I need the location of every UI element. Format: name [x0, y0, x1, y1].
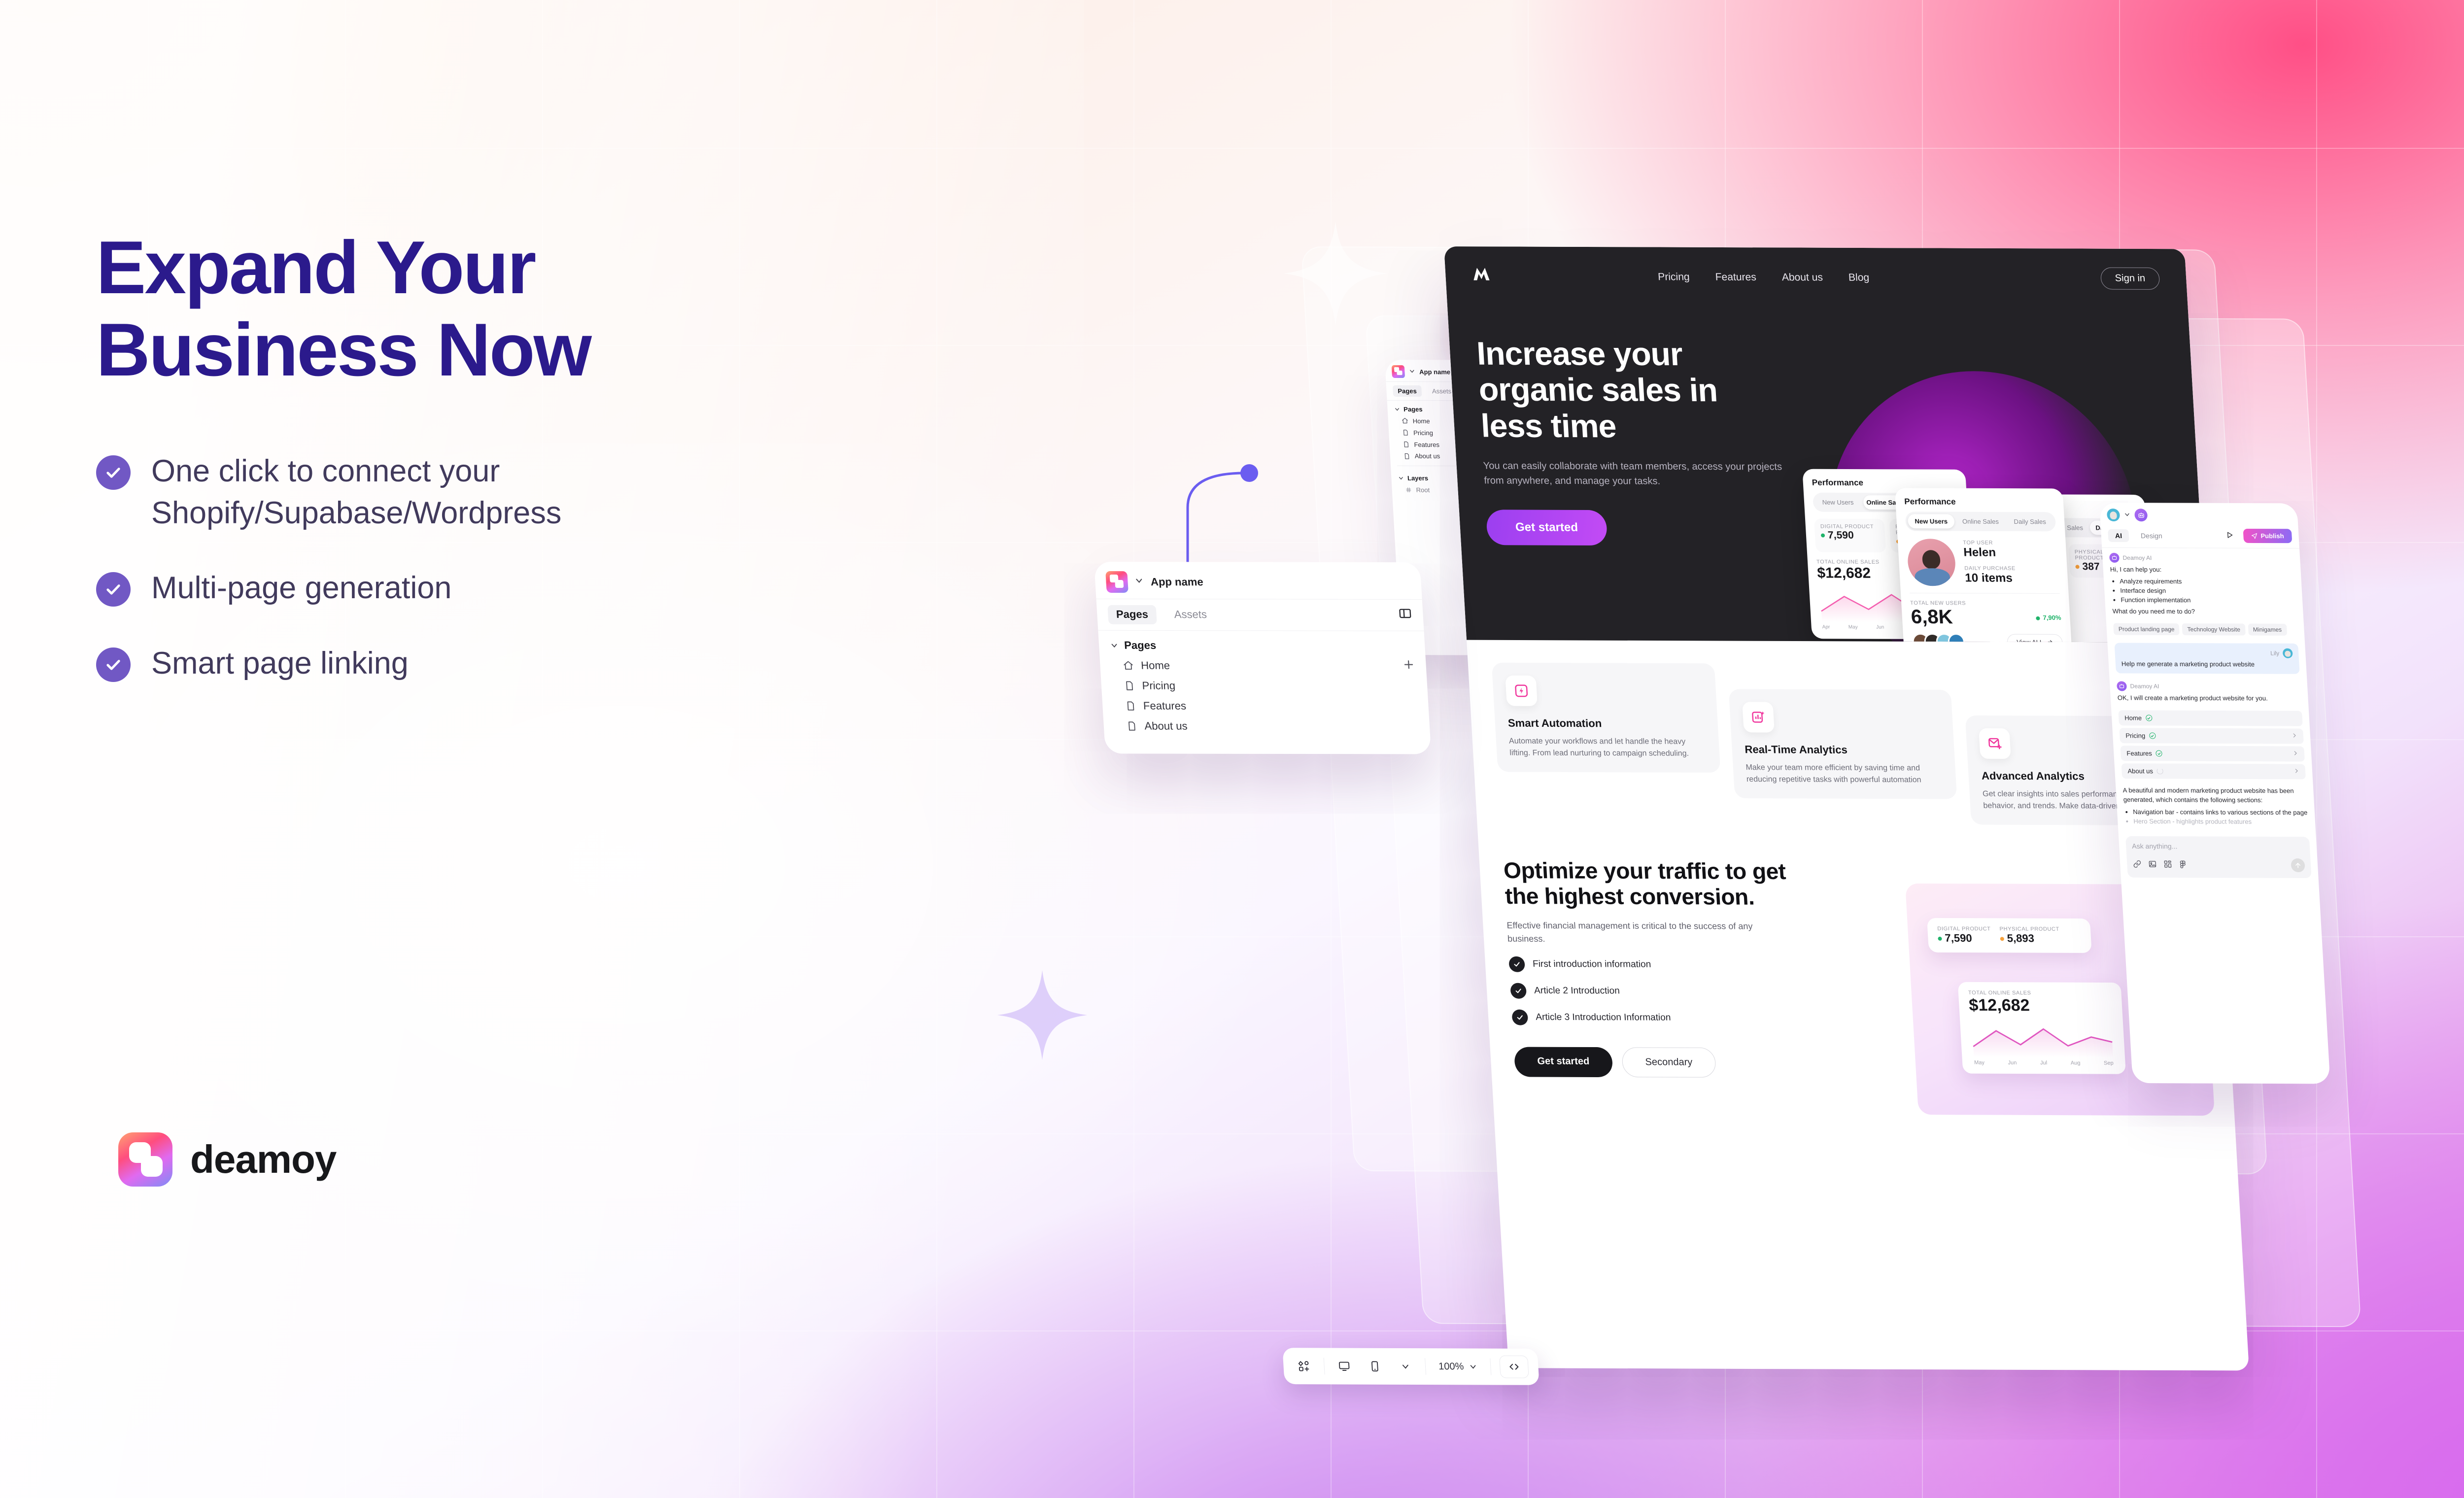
avatar[interactable]	[2107, 509, 2121, 521]
ai-panel-tabs: AI Design Publish	[2101, 525, 2299, 548]
page-item-label: About us	[1414, 452, 1440, 460]
generated-page-row[interactable]: Home	[2118, 711, 2302, 726]
publish-button[interactable]: Publish	[2243, 529, 2293, 543]
signin-button[interactable]: Sign in	[2100, 268, 2160, 290]
nav-link-pricing[interactable]: Pricing	[1658, 271, 1690, 283]
summary-text: A beautiful and modern marketing product…	[2122, 786, 2307, 805]
publish-label: Publish	[2260, 532, 2284, 540]
figma-icon[interactable]	[2179, 860, 2188, 870]
check-icon	[96, 572, 131, 607]
check-icon	[96, 455, 131, 490]
list-item-label: Article 2 Introduction	[1534, 986, 1620, 997]
list-item-label: Multi-page generation	[151, 567, 451, 609]
total-new-users-value: 6,8K	[1911, 606, 1953, 628]
page-item-label: Features	[1143, 699, 1187, 712]
hero-subtitle: You can easily collaborate with team mem…	[1483, 458, 1791, 489]
app-name: App name	[1419, 368, 1451, 375]
chevron-down-icon[interactable]	[1134, 576, 1145, 588]
status-done-icon	[2156, 750, 2162, 757]
axis-tick: Jun	[1876, 625, 1884, 630]
primary-button[interactable]: Get started	[1514, 1047, 1613, 1077]
robot-icon	[2134, 509, 2148, 521]
play-icon[interactable]	[2225, 531, 2234, 541]
chip-product-landing-page[interactable]: Product landing page	[2113, 623, 2180, 635]
tab-daily-sales[interactable]: Daily Sales	[2006, 514, 2053, 529]
kpi-physical-product: PHYSICAL PRODUCT 5,893	[1999, 926, 2060, 945]
app-name: App name	[1150, 576, 1203, 588]
page-item-label: About us	[1144, 719, 1188, 732]
axis-tick: Aug	[2070, 1060, 2080, 1066]
tab-new-users[interactable]: New Users	[1815, 495, 1861, 510]
message-author: Lily	[2121, 648, 2293, 658]
tab-ai[interactable]: AI	[2108, 529, 2129, 542]
axis-tick: Apr	[1822, 624, 1830, 630]
total-new-users-label: TOTAL NEW USERS	[1910, 600, 2060, 607]
feature-bullet-list: One click to connect your Shopify/Supaba…	[96, 450, 983, 684]
check-icon	[1511, 1009, 1528, 1025]
get-started-button[interactable]: Get started	[1486, 510, 1608, 545]
view-all-label: View ALL	[2017, 638, 2044, 643]
layout-toggle-icon[interactable]	[1398, 607, 1413, 623]
performance-card-users: Performance New Users Online Sales Daily…	[1895, 488, 2073, 643]
capability-item: Analyze requirements	[2120, 577, 2295, 587]
page-label: About us	[2127, 767, 2153, 775]
feature-card: Real-Time Analytics Make your team more …	[1728, 689, 1957, 799]
chevron-right-icon[interactable]	[2293, 750, 2299, 758]
feature-card-row: Smart Automation Automate your workflows…	[1467, 640, 2218, 826]
author-name: Lily	[2270, 649, 2280, 657]
section-label: Pages	[1403, 406, 1423, 413]
app-logo-icon	[1392, 365, 1405, 378]
chip-technology-website[interactable]: Technology Website	[2182, 623, 2246, 635]
page-title: Expand Your Business Now	[96, 227, 983, 391]
generated-page-row[interactable]: About us	[2122, 763, 2306, 779]
chevron-down-icon[interactable]	[1394, 1356, 1417, 1377]
question-text: What do you need me to do?	[2112, 607, 2296, 617]
tab-new-users[interactable]: New Users	[1908, 514, 1955, 528]
nav-link-about[interactable]: About us	[1781, 272, 1823, 283]
panel-header: App name	[1094, 562, 1422, 600]
image-icon[interactable]	[2148, 860, 2157, 870]
optimize-section: Optimize your traffic to get the highest…	[1477, 823, 2232, 1079]
chevron-right-icon[interactable]	[2293, 768, 2300, 776]
greeting-text: Hi, I can help you:	[2110, 565, 2294, 575]
card-title: Performance	[1904, 497, 2055, 507]
preview-hero: Pricing Features About us Blog Sign in I…	[1444, 246, 2207, 643]
desktop-icon[interactable]	[1333, 1355, 1356, 1377]
feature-body: Make your team more efficient by saving …	[1745, 762, 1944, 786]
assistant-message: Deamoy AI OK, I will create a marketing …	[2109, 677, 2308, 709]
card-title: Performance	[1812, 478, 1957, 488]
zoom-level: 100%	[1438, 1361, 1464, 1372]
axis-tick: Jun	[2008, 1060, 2017, 1066]
kpi-label: DIGITAL PRODUCT	[1820, 524, 1879, 530]
ai-panel-header	[2099, 503, 2298, 526]
growth-value: 7,90%	[2043, 614, 2061, 621]
section-body: Effective financial management is critic…	[1506, 919, 1784, 947]
page-label: Features	[2126, 750, 2152, 757]
list-item-label: Article 3 Introduction Information	[1536, 1012, 1671, 1023]
sparkle-icon	[995, 966, 1089, 1064]
feature-card: Smart Automation Automate your workflows…	[1492, 663, 1720, 773]
section-label: Pages	[1124, 639, 1156, 651]
robot-icon	[2109, 553, 2120, 563]
capability-item: Function implementation	[2121, 595, 2296, 605]
author-name: Deamoy AI	[2122, 554, 2152, 561]
capability-item: Interface design	[2120, 586, 2295, 596]
list-item-label: One click to connect your Shopify/Supaba…	[151, 450, 561, 534]
chevron-down-icon[interactable]	[1408, 368, 1416, 376]
pages-panel-front: App name Pages Assets Pages Home Pricing	[1094, 562, 1431, 754]
axis-tick: May	[1848, 624, 1858, 630]
panel-tabs: Pages Assets	[1096, 599, 1424, 631]
kpi-value: 7,590	[1827, 530, 1854, 541]
card-tabs: New Users Online Sales Daily Sales	[1905, 511, 2056, 531]
kpi-digital-product: DIGITAL PRODUCT 7,590	[1937, 926, 1991, 945]
brand-name: deamoy	[190, 1137, 336, 1182]
list-item-label: First introduction information	[1533, 959, 1651, 970]
check-icon	[96, 647, 131, 682]
hero-title: Increase your organic sales in less time	[1476, 336, 1798, 445]
list-item-label: Smart page linking	[151, 643, 409, 684]
daily-purchase-label: DAILY PURCHASE	[1964, 565, 2016, 571]
message-body: OK, I will create a marketing product we…	[2117, 694, 2301, 704]
generated-page-row[interactable]: Features	[2120, 746, 2304, 761]
kpi-digital-product: DIGITAL PRODUCT 7,590	[1814, 519, 1886, 552]
status-loading-icon	[2157, 768, 2164, 775]
preview-navbar: Pricing Features About us Blog Sign in	[1444, 246, 2188, 308]
app-logo-icon	[1105, 571, 1129, 593]
lightning-icon	[1505, 676, 1538, 706]
nav-link-blog[interactable]: Blog	[1848, 272, 1869, 283]
section-title: Optimize your traffic to get the highest…	[1503, 857, 1822, 910]
section-label: Layers	[1407, 475, 1429, 482]
summary-item: Hero Section - highlights product featur…	[2133, 817, 2309, 827]
components-icon[interactable]	[1293, 1355, 1316, 1377]
chat-composer[interactable]: Ask anything...	[2125, 836, 2312, 878]
ai-assistant-panel: AI Design Publish Deamoy AI Hi, I can he…	[2099, 503, 2330, 1084]
generated-page-row[interactable]: Pricing	[2119, 728, 2303, 744]
brand-logo: deamoy	[118, 1132, 336, 1187]
page-item-features[interactable]: Features	[1102, 696, 1429, 716]
product-mockup: S W App name Pages Assets	[1109, 261, 2464, 1444]
message-body: Hi, I can help you: Analyze requirements…	[2110, 565, 2296, 617]
avatar	[1907, 539, 1957, 586]
zoom-control[interactable]: 100%	[1434, 1361, 1482, 1372]
link-icon[interactable]	[2133, 860, 2142, 870]
page-item-about[interactable]: About us	[1103, 716, 1431, 737]
preview-nav-links: Pricing Features About us Blog	[1658, 271, 1870, 283]
feature-title: Smart Automation	[1507, 717, 1705, 730]
page-item-pricing[interactable]: Pricing	[1101, 676, 1428, 696]
section-pages[interactable]: Pages	[1098, 631, 1425, 656]
author-name: Deamoy AI	[2130, 683, 2159, 690]
add-page-icon[interactable]	[1402, 658, 1416, 674]
page-item-home[interactable]: Home	[1099, 655, 1427, 676]
kpi-label: DIGITAL PRODUCT	[1937, 926, 1991, 932]
chip-minigames[interactable]: Minigames	[2248, 624, 2287, 636]
summary-item: Navigation bar - contains links to vario…	[2133, 808, 2308, 817]
check-icon	[1508, 956, 1525, 972]
page-item-label: Pricing	[1142, 679, 1176, 692]
list-item: Smart page linking	[96, 643, 983, 684]
check-icon	[1510, 983, 1527, 999]
message-author: Deamoy AI	[2117, 681, 2301, 692]
feature-body: Automate your workflows and let handle t…	[1508, 736, 1707, 760]
list-item: Multi-page generation	[96, 567, 983, 609]
list-item: One click to connect your Shopify/Supaba…	[96, 450, 983, 534]
chevron-down-icon[interactable]	[2123, 511, 2131, 519]
bar-chart-icon	[1742, 702, 1775, 732]
tab-pages[interactable]: Pages	[1107, 605, 1157, 624]
kpi-label: PHYSICAL PRODUCT	[1999, 926, 2059, 932]
kpi-value: 5,893	[2007, 932, 2035, 944]
axis-tick: Sep	[2104, 1060, 2114, 1066]
user-message: Lily Help me generate a marketing produc…	[2114, 643, 2299, 674]
kpi-label: TOTAL ONLINE SALES	[1968, 990, 2112, 996]
grid-icon[interactable]	[2163, 860, 2172, 870]
page-item-label: Home	[1140, 659, 1170, 672]
page-label: Home	[2124, 715, 2142, 722]
marketing-copy: Expand Your Business Now One click to co…	[96, 227, 983, 717]
assistant-summary: A beautiful and modern marketing product…	[2116, 781, 2316, 832]
mobile-icon[interactable]	[1364, 1356, 1387, 1377]
kpi-value: 387	[2082, 561, 2100, 572]
top-user-label: TOP USER	[1963, 540, 2014, 546]
page-item-label: Home	[1412, 417, 1430, 425]
kpi-value: $12,682	[1968, 996, 2113, 1016]
deamoy-logo-icon	[118, 1132, 172, 1187]
tab-online-sales[interactable]: Online Sales	[1957, 514, 2004, 529]
send-button[interactable]	[2291, 858, 2305, 872]
top-user-value: Helen	[1963, 546, 2015, 560]
assistant-message: Deamoy AI Hi, I can help you: Analyze re…	[2102, 548, 2303, 622]
chat-input[interactable]: Ask anything...	[2132, 842, 2304, 851]
secondary-button[interactable]: Secondary	[1621, 1047, 1716, 1078]
nav-link-features[interactable]: Features	[1715, 271, 1756, 283]
kpi-value: 7,590	[1945, 932, 1973, 944]
layer-item-label: Root	[1416, 486, 1430, 494]
tab-design[interactable]: Design	[2133, 529, 2169, 542]
axis-tick: Jul	[2040, 1060, 2048, 1066]
preview-logo-icon	[1472, 267, 1495, 286]
page-label: Pricing	[2125, 732, 2146, 740]
mini-kpi-card: DIGITAL PRODUCT 7,590 PHYSICAL PRODUCT 5…	[1927, 918, 2092, 953]
avatar	[2283, 648, 2293, 658]
robot-icon	[2117, 681, 2127, 691]
line-chart	[1970, 1019, 2115, 1058]
suggestion-chips: Product landing page Technology Website …	[2106, 621, 2305, 641]
status-done-icon	[2149, 733, 2156, 739]
editor-toolbar: 100%	[1282, 1348, 1539, 1385]
mini-sales-card: TOTAL ONLINE SALES $12,682 May Jun Jul A…	[1958, 982, 2126, 1074]
status-done-icon	[2146, 715, 2153, 721]
feature-title: Real-Time Analytics	[1745, 743, 1942, 756]
daily-purchase-value: 10 items	[1965, 571, 2017, 585]
tab-pages[interactable]: Pages	[1393, 385, 1422, 397]
axis-tick: May	[1974, 1060, 1985, 1066]
user-avatar-stack	[1912, 633, 1965, 643]
chevron-right-icon[interactable]	[2292, 733, 2298, 740]
page-item-label: Features	[1414, 441, 1439, 448]
page-item-label: Pricing	[1413, 429, 1434, 437]
message-author: Deamoy AI	[2109, 553, 2293, 563]
view-all-button[interactable]: View ALL	[2007, 634, 2063, 643]
code-view-icon[interactable]	[1499, 1356, 1529, 1378]
tab-assets[interactable]: Assets	[1165, 605, 1216, 624]
message-body: Help me generate a marketing product web…	[2121, 660, 2293, 669]
mail-plus-icon	[1979, 728, 2011, 759]
